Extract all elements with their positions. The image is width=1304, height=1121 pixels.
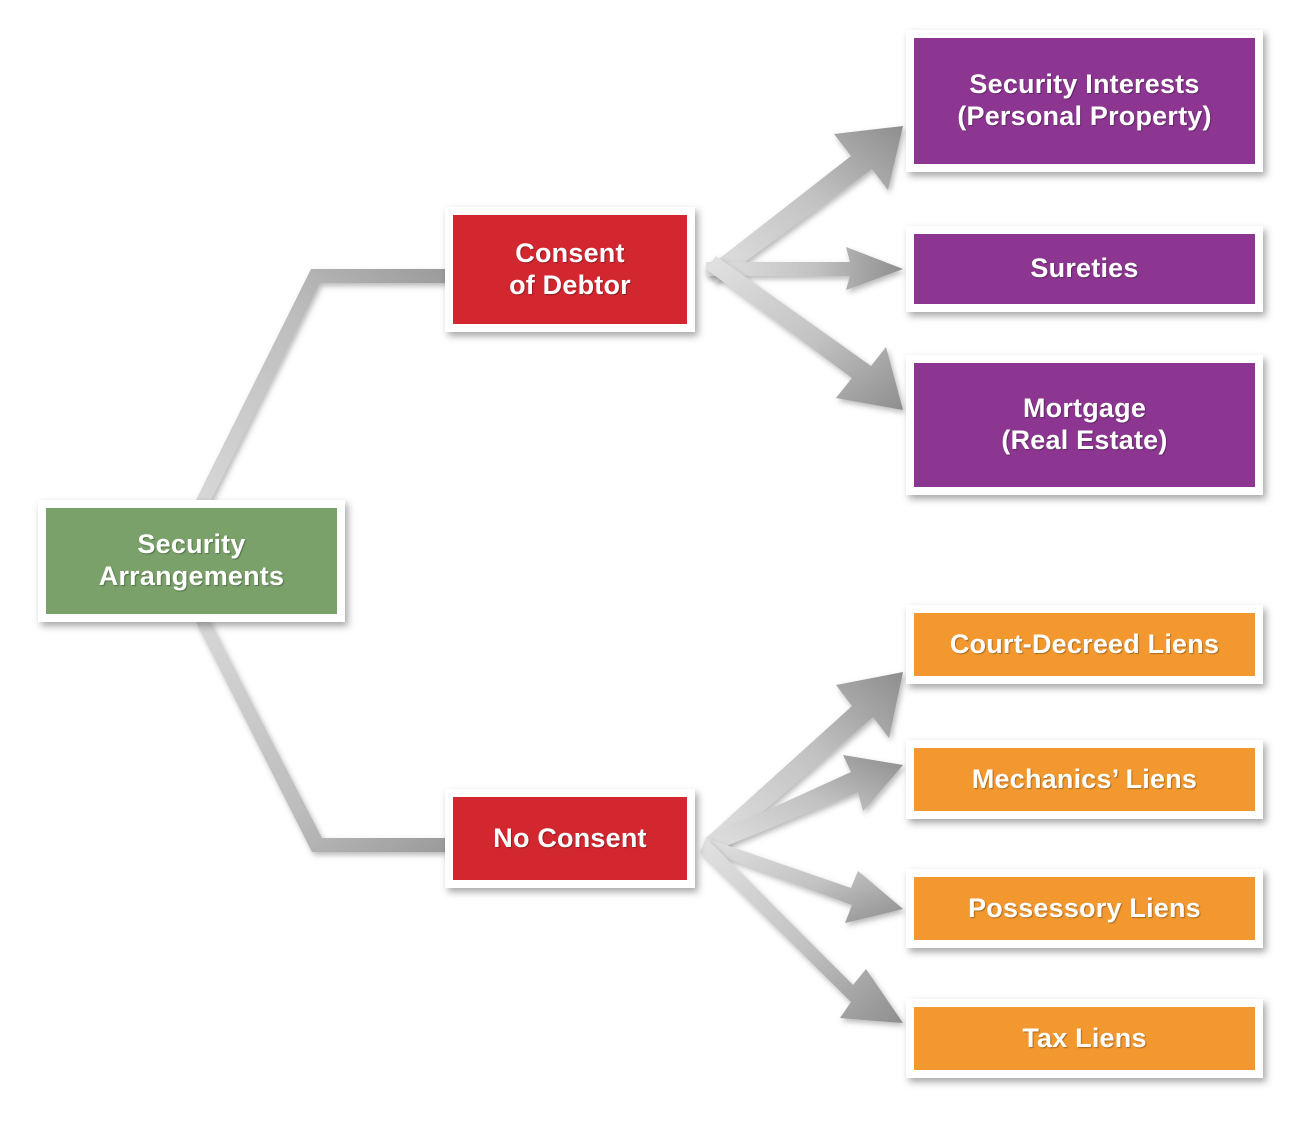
- node-mortgage[interactable]: Mortgage (Real Estate): [906, 355, 1263, 495]
- node-consent-of-debtor-body: Consent of Debtor: [453, 215, 687, 324]
- node-security-interests-line2: (Personal Property): [957, 101, 1211, 131]
- connector-root-to-no-consent: [196, 616, 450, 852]
- arrow-consent-to-sureties: [706, 247, 903, 290]
- node-security-arrangements-line2: Arrangements: [99, 561, 284, 591]
- node-sureties-label: Sureties: [1030, 253, 1138, 285]
- arrow-no-consent-to-mechanics-liens: [706, 755, 903, 852]
- connector-root-to-consent: [196, 269, 450, 508]
- node-no-consent[interactable]: No Consent: [445, 789, 695, 888]
- node-security-arrangements-line1: Security: [137, 529, 245, 559]
- node-security-interests[interactable]: Security Interests (Personal Property): [906, 30, 1263, 172]
- node-mechanics-liens-label: Mechanics’ Liens: [972, 764, 1197, 796]
- node-no-consent-body: No Consent: [453, 797, 687, 880]
- node-consent-of-debtor[interactable]: Consent of Debtor: [445, 207, 695, 332]
- node-possessory-liens-label: Possessory Liens: [968, 893, 1201, 925]
- arrow-no-consent-to-possessory-liens: [706, 838, 903, 923]
- arrow-no-consent-to-tax-liens: [700, 838, 903, 1023]
- node-mortgage-line1: Mortgage: [1023, 393, 1146, 423]
- node-court-decreed-liens-body: Court-Decreed Liens: [914, 613, 1255, 676]
- node-consent-of-debtor-line2: of Debtor: [509, 270, 631, 300]
- arrow-no-consent-to-court-decreed-liens: [706, 672, 903, 852]
- node-possessory-liens[interactable]: Possessory Liens: [906, 869, 1263, 948]
- node-sureties-body: Sureties: [914, 234, 1255, 304]
- node-security-interests-line1: Security Interests: [969, 69, 1199, 99]
- node-security-arrangements[interactable]: Security Arrangements: [38, 500, 345, 622]
- node-security-interests-body: Security Interests (Personal Property): [914, 38, 1255, 164]
- node-consent-of-debtor-line1: Consent: [515, 238, 624, 268]
- node-mortgage-body: Mortgage (Real Estate): [914, 363, 1255, 487]
- node-tax-liens[interactable]: Tax Liens: [906, 999, 1263, 1078]
- node-sureties[interactable]: Sureties: [906, 226, 1263, 312]
- diagram-canvas: Security Arrangements Consent of Debtor …: [0, 0, 1304, 1121]
- node-tax-liens-label: Tax Liens: [1022, 1023, 1146, 1055]
- arrow-consent-to-mortgage: [706, 256, 903, 410]
- node-no-consent-label: No Consent: [493, 823, 647, 855]
- node-court-decreed-liens-label: Court-Decreed Liens: [950, 629, 1219, 661]
- node-mortgage-line2: (Real Estate): [1001, 425, 1167, 455]
- node-tax-liens-body: Tax Liens: [914, 1007, 1255, 1070]
- node-court-decreed-liens[interactable]: Court-Decreed Liens: [906, 605, 1263, 684]
- node-mechanics-liens-body: Mechanics’ Liens: [914, 748, 1255, 811]
- node-mechanics-liens[interactable]: Mechanics’ Liens: [906, 740, 1263, 819]
- node-security-arrangements-body: Security Arrangements: [46, 508, 337, 614]
- arrow-consent-to-security-interests: [706, 126, 903, 283]
- node-possessory-liens-body: Possessory Liens: [914, 877, 1255, 940]
